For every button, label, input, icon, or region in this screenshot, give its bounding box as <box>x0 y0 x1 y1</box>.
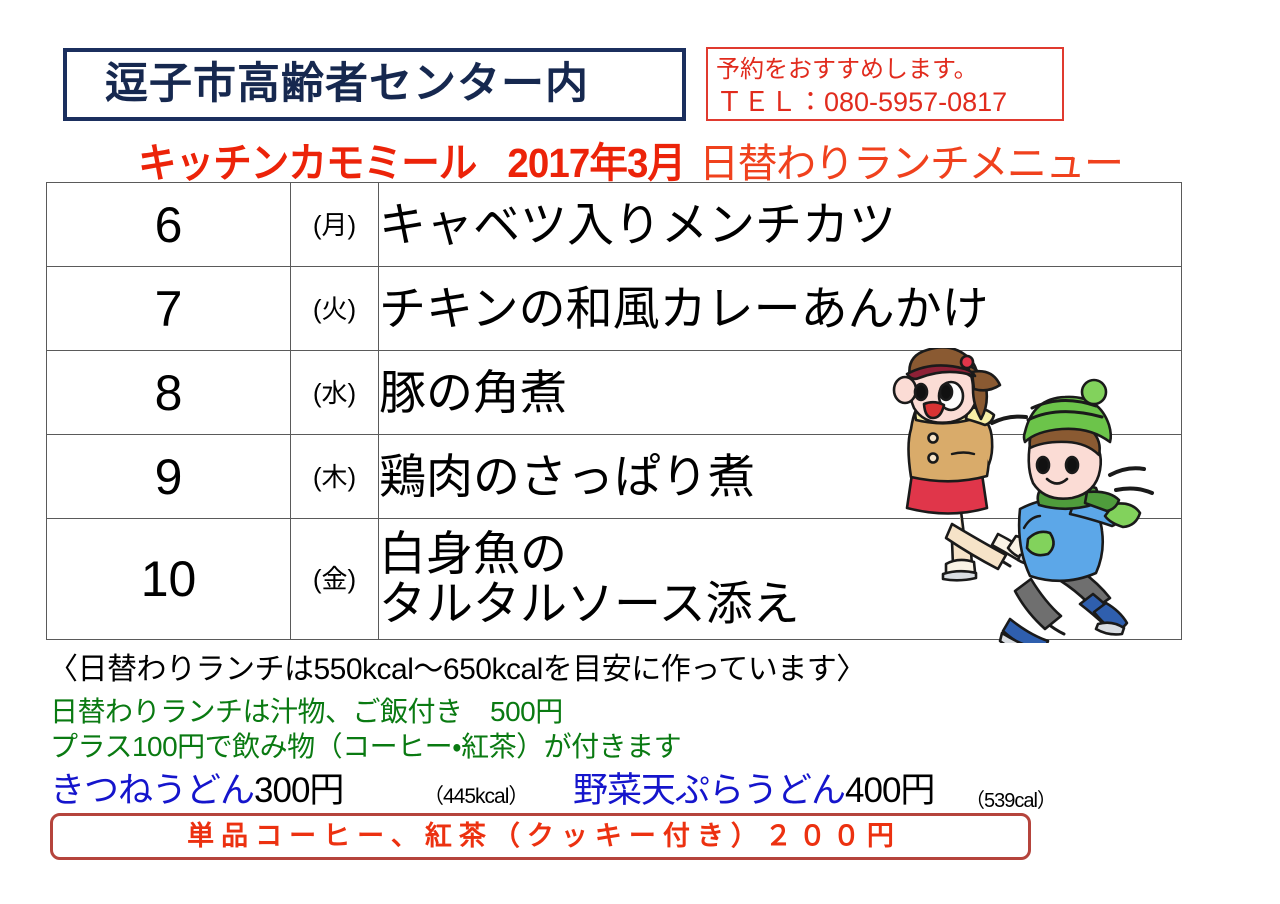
kcal-range-note: 〈日替わりランチは550kcal～650kcalを目安に作っています〉 <box>48 655 866 685</box>
menu-dish-line1: チキンの和風カレーあんかけ <box>379 282 989 335</box>
udon-price-row: きつねうどん300円 （445kcal） 野菜天ぷらうどん400円 （539ca… <box>50 762 1090 807</box>
page-title: キッチンカモミール 2017年3月 日替わりランチメニュー <box>138 129 1123 177</box>
menu-day: 10 <box>47 519 291 640</box>
menu-dish-line1: 鶏肉のさっぱり煮 <box>379 450 755 503</box>
udon-item-kitsune: きつねうどん300円 <box>50 762 343 813</box>
menu-weekday: (金) <box>291 519 379 640</box>
drink-addon-note: プラス100円で飲み物（コーヒー・紅茶）が付きます <box>50 733 681 761</box>
venue-label: 逗子市高齢者センター内 <box>105 63 589 106</box>
menu-day: 9 <box>47 435 291 519</box>
yasai-udon-kcal: （539cal） <box>965 784 1056 813</box>
title-suffix: 日替わりランチメニュー <box>697 131 1123 189</box>
menu-day: 8 <box>47 351 291 435</box>
udon-item-yasai-tempura: 野菜天ぷらうどん400円 <box>573 762 934 813</box>
reservation-tel-box: 予約をおすすめします。 ＴＥＬ：080-5957-0817 <box>706 47 1064 121</box>
kitsune-udon-name: きつねうどん <box>50 771 254 810</box>
menu-dish-line1: 豚の角煮 <box>379 366 567 419</box>
daily-menu-table: 6 (月) キャベツ入りメンチカツ 7 (火) チキンの和風カレーあんかけ 8 … <box>46 182 1182 640</box>
title-year-month: 2017年3月 <box>498 129 685 189</box>
menu-dish-line1: 白身魚の <box>379 529 1181 579</box>
coffee-price-label: 単品コーヒー、紅茶（クッキー付き）２００円 <box>180 823 901 850</box>
menu-dish: 豚の角煮 <box>379 351 1182 435</box>
menu-weekday: (火) <box>291 267 379 351</box>
table-row: 6 (月) キャベツ入りメンチカツ <box>47 183 1182 267</box>
menu-poster: 逗子市高齢者センター内 予約をおすすめします。 ＴＥＬ：080-5957-081… <box>0 0 1280 904</box>
menu-dish-line1: キャベツ入りメンチカツ <box>379 198 896 251</box>
menu-dish: キャベツ入りメンチカツ <box>379 183 1182 267</box>
table-row: 9 (木) 鶏肉のさっぱり煮 <box>47 435 1182 519</box>
menu-dish: チキンの和風カレーあんかけ <box>379 267 1182 351</box>
kitsune-udon-price: 300円 <box>254 771 343 810</box>
menu-weekday: (木) <box>291 435 379 519</box>
reservation-note: 予約をおすすめします。 <box>716 53 1062 86</box>
menu-weekday: (月) <box>291 183 379 267</box>
table-row: 10 (金) 白身魚の タルタルソース添え <box>47 519 1182 640</box>
menu-day: 6 <box>47 183 291 267</box>
table-row: 7 (火) チキンの和風カレーあんかけ <box>47 267 1182 351</box>
menu-dish-line2: タルタルソース添え <box>379 579 1181 629</box>
shop-name: キッチンカモミール <box>138 129 476 189</box>
yasai-udon-name: 野菜天ぷらうどん <box>573 771 845 810</box>
menu-weekday: (水) <box>291 351 379 435</box>
venue-box: 逗子市高齢者センター内 <box>63 48 686 121</box>
menu-day: 7 <box>47 267 291 351</box>
coffee-price-box: 単品コーヒー、紅茶（クッキー付き）２００円 <box>50 813 1031 860</box>
menu-dish: 白身魚の タルタルソース添え <box>379 519 1182 640</box>
lunch-set-note: 日替わりランチは汁物、ご飯付き 500円 <box>50 698 563 726</box>
yasai-udon-price: 400円 <box>845 771 934 810</box>
kitsune-udon-kcal: （445kcal） <box>423 780 528 810</box>
table-row: 8 (水) 豚の角煮 <box>47 351 1182 435</box>
menu-dish: 鶏肉のさっぱり煮 <box>379 435 1182 519</box>
telephone-number: ＴＥＬ：080-5957-0817 <box>716 86 1062 119</box>
